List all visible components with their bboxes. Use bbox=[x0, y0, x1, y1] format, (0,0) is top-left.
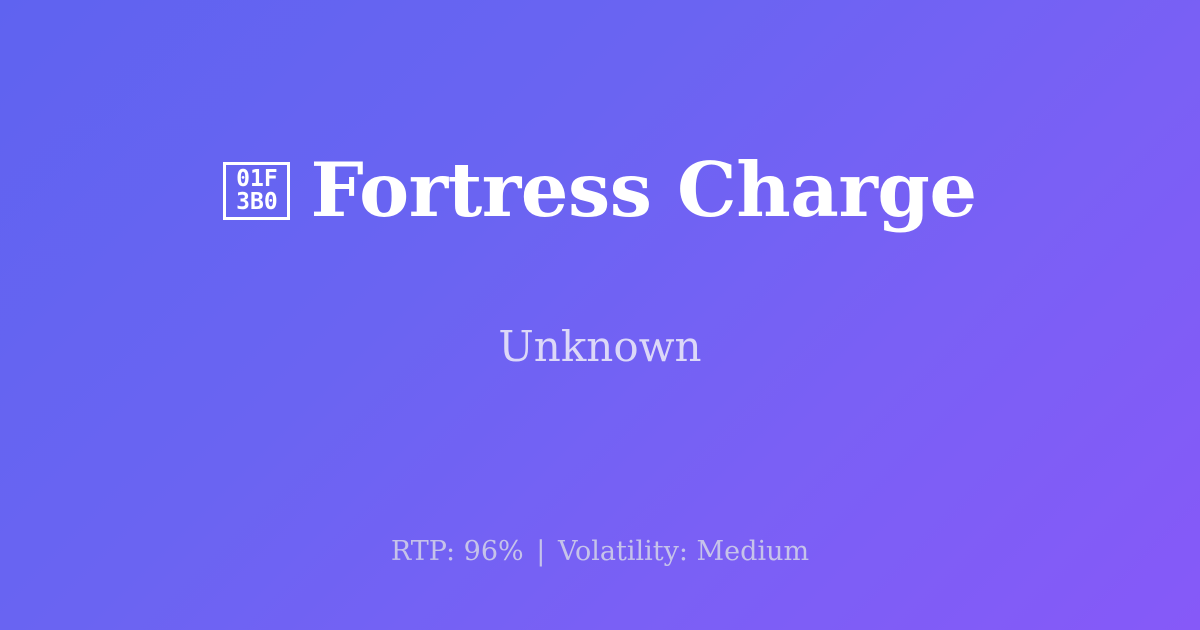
tofu-codepoint-bottom: 3B0 bbox=[236, 191, 278, 214]
slot-machine-icon: 01F 3B0 bbox=[223, 162, 290, 220]
page-title: Fortress Charge bbox=[310, 151, 976, 230]
hero-section: 01F 3B0 Fortress Charge Unknown bbox=[0, 0, 1200, 470]
og-preview-card: 01F 3B0 Fortress Charge Unknown RTP: 96%… bbox=[0, 0, 1200, 630]
game-meta-line: RTP: 96% | Volatility: Medium bbox=[0, 536, 1200, 568]
rtp-value: RTP: 96% bbox=[391, 536, 524, 567]
tofu-codepoint-top: 01F bbox=[236, 168, 278, 191]
page-subtitle: Unknown bbox=[498, 324, 701, 370]
meta-separator: | bbox=[532, 536, 549, 567]
title-row: 01F 3B0 Fortress Charge bbox=[223, 100, 976, 279]
volatility-value: Volatility: Medium bbox=[558, 536, 809, 567]
